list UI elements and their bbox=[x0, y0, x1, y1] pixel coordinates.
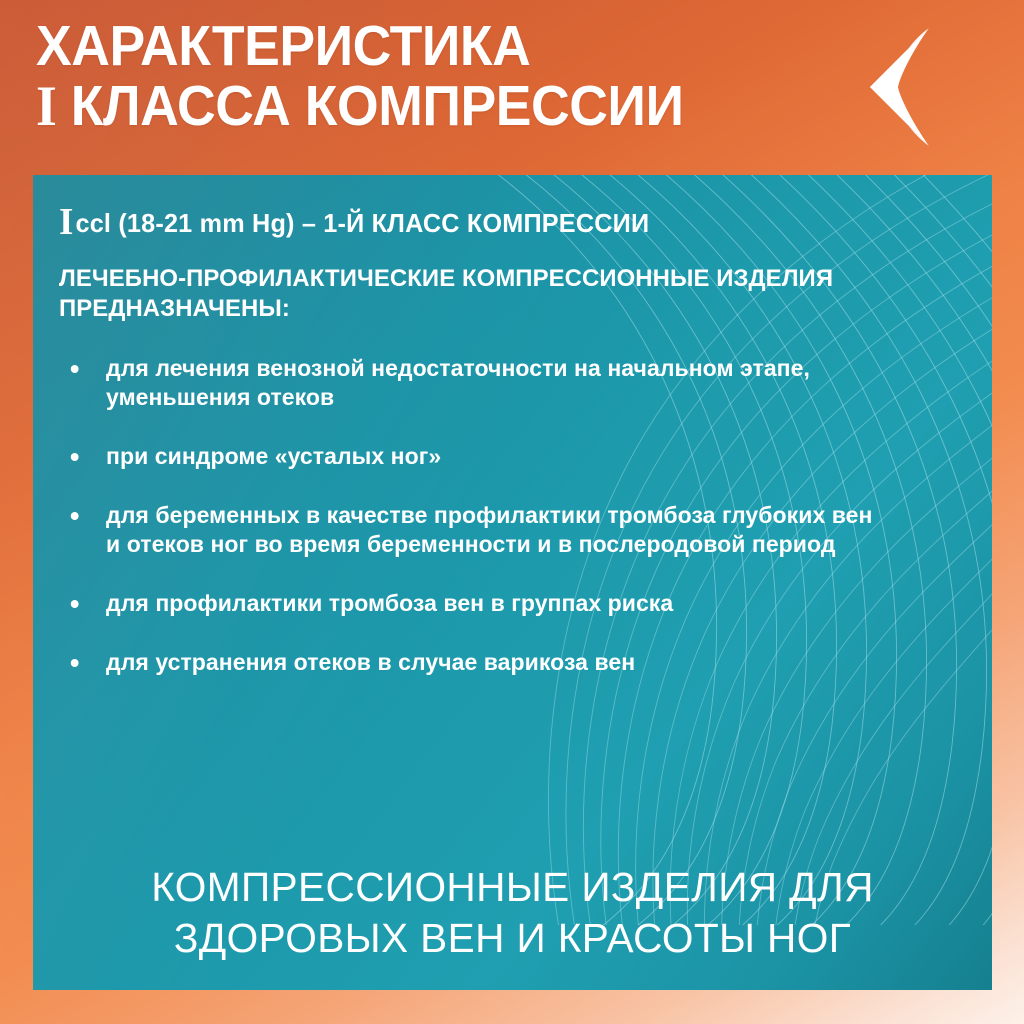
page-title-roman-numeral: I bbox=[36, 75, 56, 138]
poster-root: ХАРАКТЕРИСТИКАI КЛАССА КОМПРЕССИИ bbox=[0, 0, 1024, 1024]
panel-content: Iccl (18-21 mm Hg) – 1-Й КЛАСС КОМПРЕССИ… bbox=[59, 205, 972, 677]
list-item: для профилактики тромбоза вен в группах … bbox=[59, 589, 892, 618]
page-title: ХАРАКТЕРИСТИКАI КЛАССА КОМПРЕССИИ bbox=[36, 16, 684, 137]
list-item: для лечения венозной недостаточности на … bbox=[59, 354, 892, 412]
brand-diamond-logo-icon bbox=[862, 20, 996, 154]
ccl-roman-numeral: I bbox=[59, 201, 74, 243]
list-item: для беременных в качестве профилактики т… bbox=[59, 501, 892, 559]
ccl-description: ccl (18-21 mm Hg) – 1-Й КЛАСС КОМПРЕССИИ bbox=[75, 208, 649, 238]
list-item: для устранения отеков в случае варикоза … bbox=[59, 648, 892, 677]
indications-list: для лечения венозной недостаточности на … bbox=[59, 354, 972, 677]
page-title-line2: КЛАССА КОМПРЕССИИ bbox=[56, 74, 683, 138]
compression-class-line: Iccl (18-21 mm Hg) – 1-Й КЛАСС КОМПРЕССИ… bbox=[59, 205, 945, 240]
intro-heading: ЛЕЧЕБНО-ПРОФИЛАКТИЧЕСКИЕ КОМПРЕССИОННЫЕ … bbox=[59, 264, 898, 324]
content-panel: Iccl (18-21 mm Hg) – 1-Й КЛАСС КОМПРЕССИ… bbox=[33, 175, 992, 990]
list-item: при синдроме «усталых ног» bbox=[59, 442, 892, 471]
page-title-line1: ХАРАКТЕРИСТИКА bbox=[36, 14, 530, 78]
footer-slogan: КОМПРЕССИОННЫЕ ИЗДЕЛИЯ ДЛЯ ЗДОРОВЫХ ВЕН … bbox=[38, 862, 987, 964]
poster-header: ХАРАКТЕРИСТИКАI КЛАССА КОМПРЕССИИ bbox=[0, 0, 1024, 175]
